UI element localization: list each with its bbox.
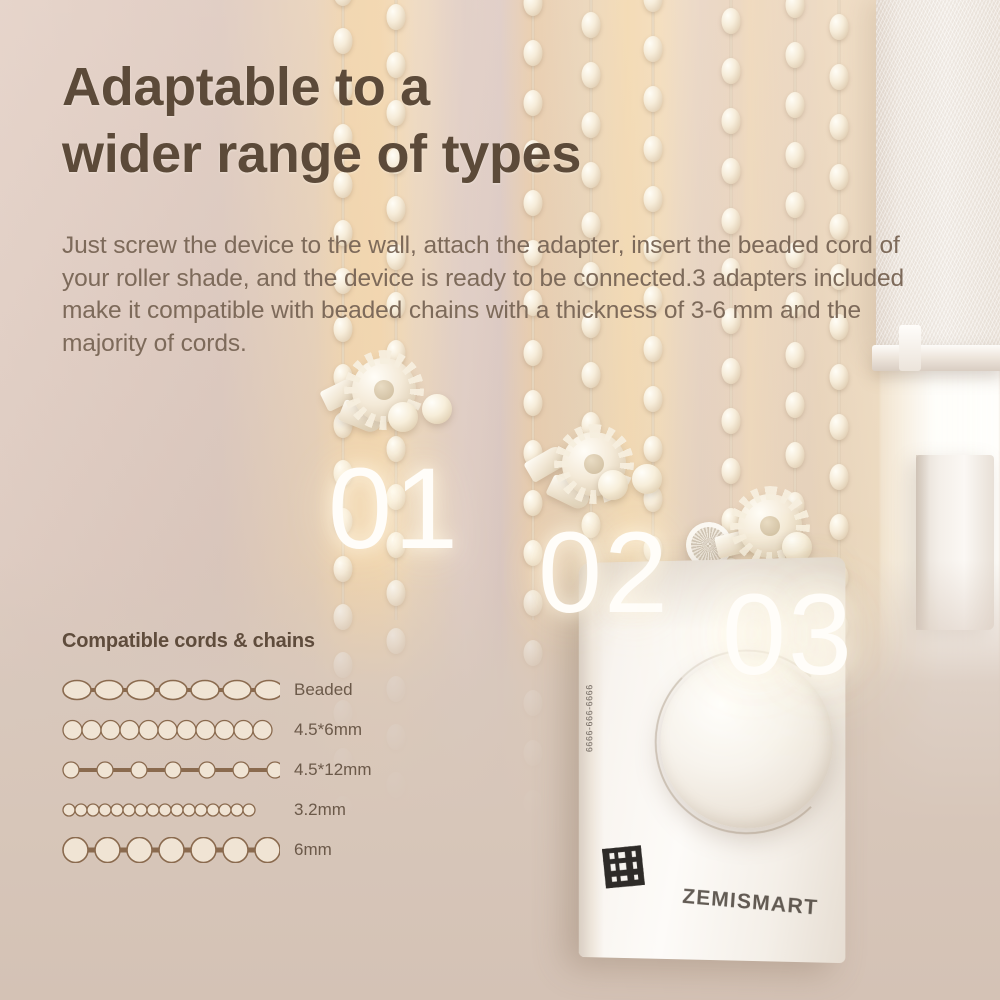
chain-bead-shape xyxy=(147,804,159,816)
chain-bead-shape xyxy=(223,681,251,700)
chain-bead xyxy=(830,14,849,40)
qr-code-icon xyxy=(602,845,645,888)
legend-title: Compatible cords & chains xyxy=(62,630,422,653)
chain-bead-shape xyxy=(195,804,207,816)
legend-label: 6mm xyxy=(294,840,332,860)
chain-diagram-large-spaced xyxy=(62,837,280,863)
chain-bead xyxy=(830,164,849,190)
legend-label: 4.5*6mm xyxy=(294,720,362,740)
chain-bead xyxy=(644,0,663,12)
chain-diagram-oval-link xyxy=(62,677,280,703)
device-serial-number: 6666-666-6666 xyxy=(585,684,595,752)
chain-bead-shape xyxy=(75,804,87,816)
chain-bead-shape xyxy=(243,804,255,816)
body-paragraph: Just screw the device to the wall, attac… xyxy=(62,230,934,360)
chain-bead xyxy=(722,158,741,184)
chain-bead-shape xyxy=(255,838,280,863)
chain-link xyxy=(79,768,98,772)
chain-bead xyxy=(786,142,805,168)
chain-bead xyxy=(722,358,741,384)
chain-bead-shape xyxy=(231,804,243,816)
legend-label: 4.5*12mm xyxy=(294,760,371,780)
legend-row: 4.5*12mm xyxy=(62,751,422,789)
chain-bead xyxy=(722,8,741,34)
chain-bead xyxy=(524,390,543,416)
chain-bead-shape xyxy=(158,721,177,740)
chain-link xyxy=(181,768,200,772)
chain-bead xyxy=(722,408,741,434)
chain-bead-shape xyxy=(139,721,158,740)
legend-row: Beaded xyxy=(62,671,422,709)
chain-bead xyxy=(722,458,741,484)
chain-bead xyxy=(582,112,601,138)
step-number-02: 02 xyxy=(538,516,670,631)
chain-bead xyxy=(387,196,406,222)
chain-bead xyxy=(334,0,353,6)
chain-bead xyxy=(582,162,601,188)
chain-bead xyxy=(786,442,805,468)
chain-bead xyxy=(582,12,601,38)
chain-bead-shape xyxy=(223,838,248,863)
product-marketing-image: 6666-666-6666 ZEMISMART 01 02 03 Adaptab… xyxy=(0,0,1000,1000)
chain-bead-shape xyxy=(207,804,219,816)
brand-logo-text: ZEMISMART xyxy=(682,885,819,921)
chain-bead xyxy=(786,92,805,118)
chain-bead xyxy=(644,136,663,162)
chain-bead-shape xyxy=(95,681,123,700)
chain-bead-shape xyxy=(253,721,272,740)
chain-bead-shape xyxy=(215,721,234,740)
chain-bead-shape xyxy=(97,762,113,778)
chain-bead-shape xyxy=(63,838,88,863)
legend-label: 3.2mm xyxy=(294,800,346,820)
chain-bead xyxy=(722,108,741,134)
chain-bead xyxy=(830,464,849,490)
chain-bead-shape xyxy=(196,721,215,740)
chain-diagram-round-spaced xyxy=(62,757,280,783)
chain-bead-shape xyxy=(234,721,253,740)
chain-diagram-tiny-touching xyxy=(62,797,280,823)
legend-label: Beaded xyxy=(294,680,353,700)
chain-bead xyxy=(334,28,353,54)
headline-line-1: Adaptable to a xyxy=(62,54,581,121)
chain-bead-shape xyxy=(267,762,280,778)
legend-rows: Beaded4.5*6mm4.5*12mm3.2mm6mm xyxy=(62,671,422,869)
chain-link xyxy=(147,768,166,772)
chain-bead xyxy=(387,4,406,30)
adapter-bead xyxy=(422,394,452,424)
adapter-bead xyxy=(632,464,662,494)
chain-bead xyxy=(582,62,601,88)
headline: Adaptable to a wider range of types xyxy=(62,54,581,188)
chain-bead-shape xyxy=(120,721,139,740)
step-number-01: 01 xyxy=(328,452,460,567)
chain-bead-shape xyxy=(233,762,249,778)
chain-bead-shape xyxy=(95,838,120,863)
chain-diagram-round-touching xyxy=(62,717,280,743)
chain-bead xyxy=(786,392,805,418)
adapter-bead xyxy=(388,402,418,432)
chain-bead xyxy=(786,42,805,68)
chain-bead xyxy=(644,386,663,412)
chain-bead-shape xyxy=(191,838,216,863)
chain-bead xyxy=(830,514,849,540)
legend-row: 3.2mm xyxy=(62,791,422,829)
adapter-bead xyxy=(598,470,628,500)
chain-bead-shape xyxy=(101,721,120,740)
chain-link xyxy=(113,768,132,772)
chain-bead xyxy=(830,64,849,90)
chain-bead-shape xyxy=(183,804,195,816)
chain-bead-shape xyxy=(87,804,99,816)
chain-bead xyxy=(644,86,663,112)
compatible-cords-legend: Compatible cords & chains Beaded4.5*6mm4… xyxy=(62,630,422,871)
chain-bead-shape xyxy=(63,804,75,816)
chain-link xyxy=(249,768,268,772)
chain-bead xyxy=(524,0,543,16)
chain-bead xyxy=(582,362,601,388)
chain-bead xyxy=(644,36,663,62)
chain-bead xyxy=(644,436,663,462)
chain-bead xyxy=(524,190,543,216)
chain-bead xyxy=(830,364,849,390)
chain-bead-shape xyxy=(99,804,111,816)
step-number-03: 03 xyxy=(722,578,854,693)
chain-bead-shape xyxy=(131,762,147,778)
chain-bead-shape xyxy=(171,804,183,816)
chain-link xyxy=(215,768,234,772)
chain-bead-shape xyxy=(219,804,231,816)
chain-bead-shape xyxy=(177,721,196,740)
legend-row: 4.5*6mm xyxy=(62,711,422,749)
chain-bead-shape xyxy=(165,762,181,778)
chain-bead-shape xyxy=(82,721,101,740)
chain-bead-shape xyxy=(255,681,280,700)
chain-bead xyxy=(786,0,805,18)
chain-bead-shape xyxy=(127,681,155,700)
chain-bead-shape xyxy=(63,721,82,740)
chain-bead-shape xyxy=(199,762,215,778)
chain-bead xyxy=(830,114,849,140)
chain-bead-shape xyxy=(63,681,91,700)
chain-bead-shape xyxy=(63,762,79,778)
chain-bead xyxy=(830,414,849,440)
chain-bead xyxy=(786,192,805,218)
chain-bead-shape xyxy=(159,804,171,816)
chain-bead-shape xyxy=(111,804,123,816)
chain-bead-shape xyxy=(127,838,152,863)
legend-row: 6mm xyxy=(62,831,422,869)
headline-line-2: wider range of types xyxy=(62,121,581,188)
chain-bead-shape xyxy=(191,681,219,700)
chain-bead-shape xyxy=(159,681,187,700)
chain-bead xyxy=(644,186,663,212)
chain-bead-shape xyxy=(159,838,184,863)
chain-bead-shape xyxy=(123,804,135,816)
chain-bead-shape xyxy=(135,804,147,816)
chain-bead xyxy=(722,58,741,84)
